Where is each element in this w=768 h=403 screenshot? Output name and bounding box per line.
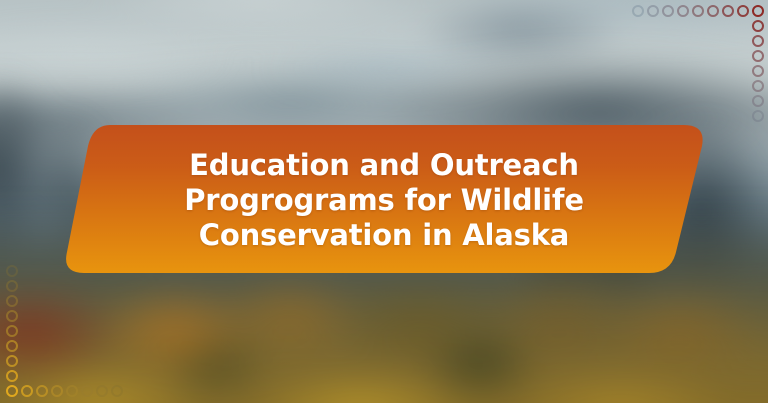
- decor-dot: [51, 385, 63, 397]
- decor-dot: [66, 385, 78, 397]
- page-title: Education and Outreach Progrograms for W…: [0, 148, 768, 253]
- decor-dot: [752, 65, 764, 77]
- decor-dot: [81, 385, 93, 397]
- decor-dot: [6, 325, 18, 337]
- decor-dot: [752, 95, 764, 107]
- decor-dot: [6, 355, 18, 367]
- decor-dot: [96, 385, 108, 397]
- decor-dot: [6, 280, 18, 292]
- decor-dot: [737, 5, 749, 17]
- decor-dot: [21, 385, 33, 397]
- decor-dot: [6, 295, 18, 307]
- decor-dot: [6, 310, 18, 322]
- decor-dot: [707, 5, 719, 17]
- decor-dot: [632, 5, 644, 17]
- decor-dot: [647, 5, 659, 17]
- decor-dot: [111, 385, 123, 397]
- decor-dot: [662, 5, 674, 17]
- decor-dot: [6, 385, 18, 397]
- decor-dot: [752, 35, 764, 47]
- decor-dot: [677, 5, 689, 17]
- decor-dot: [36, 385, 48, 397]
- decor-dot: [722, 5, 734, 17]
- decor-dot: [6, 370, 18, 382]
- decor-dot: [752, 5, 764, 17]
- decor-dot: [752, 80, 764, 92]
- dot-cluster-top-right: [628, 0, 768, 110]
- title-banner: Education and Outreach Progrograms for W…: [0, 120, 768, 278]
- dot-cluster-bottom-left: [0, 278, 140, 403]
- decor-dot: [6, 340, 18, 352]
- decor-dot: [752, 20, 764, 32]
- decor-dot: [752, 50, 764, 62]
- decor-dot: [692, 5, 704, 17]
- title-card: Education and Outreach Progrograms for W…: [0, 0, 768, 403]
